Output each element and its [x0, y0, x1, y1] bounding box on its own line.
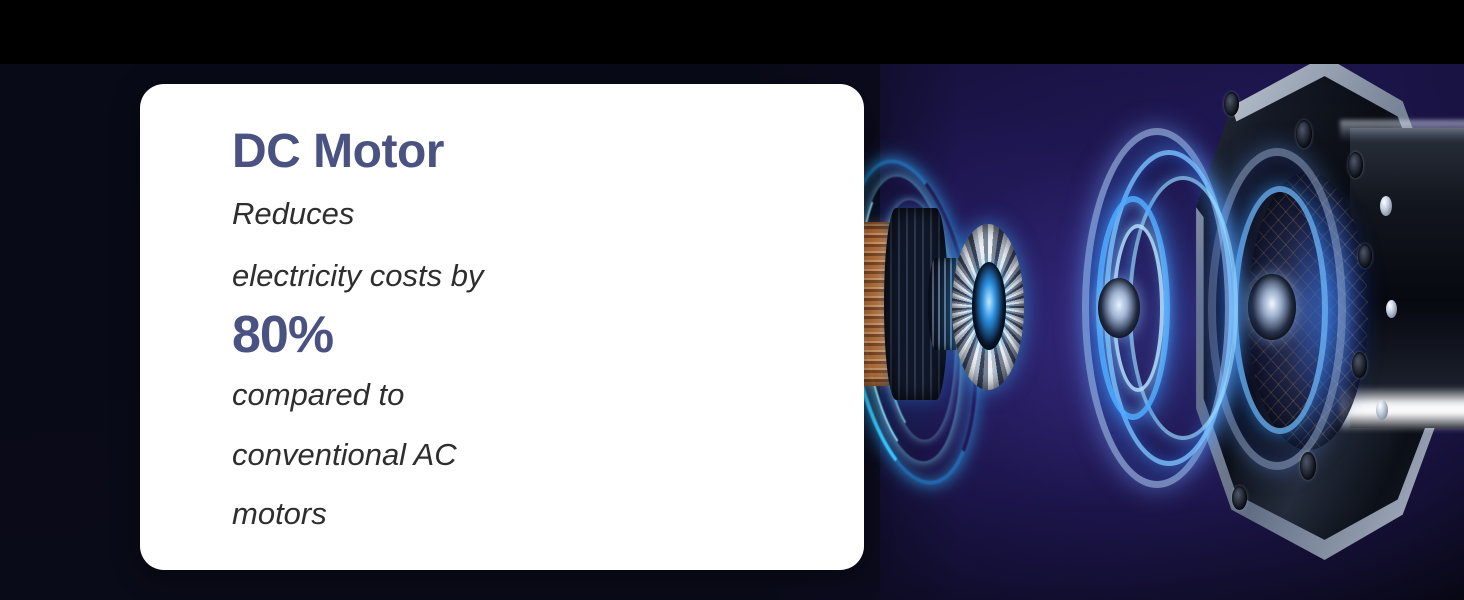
- info-card-content: DC Motor Reduces electricity costs by 80…: [232, 124, 652, 540]
- rotor-hub-right-inner: [1248, 274, 1296, 340]
- tail-line-1: compared to: [232, 368, 652, 421]
- housing-stud: [1386, 300, 1397, 318]
- highlight-percentage: 80%: [232, 308, 652, 363]
- lede-line-1: Reduces: [232, 187, 652, 240]
- bolt-hole: [1352, 352, 1367, 378]
- housing-stud: [1380, 196, 1392, 216]
- bolt-hole: [1300, 452, 1316, 480]
- banner-stage: DC Motor Reduces electricity costs by 80…: [0, 0, 1464, 600]
- housing-stud: [1376, 400, 1388, 420]
- lede-line-2: electricity costs by: [232, 249, 652, 302]
- bolt-hole: [1232, 486, 1247, 510]
- tail-line-2: conventional AC: [232, 428, 652, 481]
- drive-shaft-top-highlight: [1340, 120, 1464, 142]
- bolt-hole: [1348, 152, 1363, 178]
- info-card: DC Motor Reduces electricity costs by 80…: [140, 84, 864, 570]
- rotor-hub-right-outer: [1098, 278, 1140, 338]
- bolt-hole: [1224, 92, 1239, 116]
- flower-rotor-core: [972, 262, 1006, 350]
- tail-line-3: motors: [232, 487, 652, 540]
- bolt-hole: [1358, 244, 1372, 268]
- bolt-hole: [1296, 120, 1312, 148]
- letterbox-band-top: [0, 0, 1464, 64]
- page-title: DC Motor: [232, 124, 652, 179]
